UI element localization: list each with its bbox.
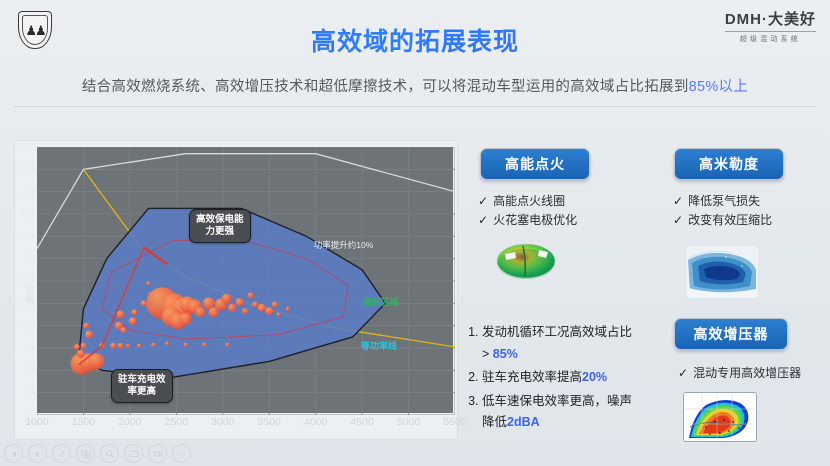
pen-icon[interactable] [52, 444, 71, 463]
x-axis-tick: 3000 [211, 416, 234, 428]
turbo-map-thumb [683, 392, 757, 442]
y-axis-tick: 180 [16, 208, 34, 220]
key-point-highlight: 20% [582, 370, 607, 384]
callout-hold-charge-line1: 高效保电能 [196, 214, 244, 226]
y-axis-tick: 80 [22, 320, 34, 332]
subtitle-main: 结合高效燃烧系统、高效增压技术和超低摩擦技术，可以将混动车型运用的高效域占比拓展… [82, 79, 689, 95]
callout-hold-charge: 高效保电能 力更强 [189, 209, 251, 243]
check-icon: ✓ [673, 213, 683, 227]
zoom-icon[interactable] [100, 444, 119, 463]
play-icon[interactable] [28, 444, 47, 463]
check-icon: ✓ [478, 194, 488, 208]
bullet-item: ✓高能点火线圈 [478, 192, 577, 211]
bullet-label: 降低泵气损失 [688, 194, 760, 208]
annotation-efficient-zone: 高效区域 [363, 295, 399, 308]
y-axis-tick: 160 [16, 230, 34, 242]
x-axis-tick: 2000 [118, 416, 141, 428]
bullet-label: 火花塞电极优化 [493, 213, 577, 227]
y-axis-tick: 20 [22, 387, 34, 399]
subtitle-highlight: 85%以上 [689, 79, 749, 95]
intake-flow-thumb [686, 246, 758, 298]
x-axis-tick: 4500 [350, 416, 373, 428]
bullet-item: ✓混动专用高效增压器 [678, 364, 801, 383]
callout-park-charge-line1: 驻车充电效 [118, 374, 166, 386]
key-point-highlight: 85% [493, 347, 518, 361]
bullet-item: ✓改变有效压缩比 [673, 211, 772, 230]
key-point-text: 低车速保电效率更高，噪声降低 [482, 394, 632, 430]
x-axis-tick: 1500 [72, 416, 95, 428]
chart-graphics [37, 147, 455, 415]
combustion-cfd-thumb [495, 240, 557, 282]
y-axis-tick: 40 [22, 364, 34, 376]
annotation-power-gain: 功率提升约10% [314, 239, 374, 251]
list-item: 驻车充电效率提高20% [482, 367, 637, 389]
x-axis-tick: 4000 [304, 416, 327, 428]
key-point-text: 驻车充电效率提高 [482, 370, 582, 384]
badge-high-energy-ignition[interactable]: 高能点火 [480, 148, 590, 180]
page-subtitle: 结合高效燃烧系统、高效增压技术和超低摩擦技术，可以将混动车型运用的高效域占比拓展… [0, 75, 830, 96]
callout-hold-charge-line2: 力更强 [196, 226, 244, 238]
bullets-high-efficiency-turbo: ✓混动专用高效增压器 [678, 364, 801, 383]
list-item: 发动机循环工况高效域占比 > 85% [482, 322, 637, 365]
x-axis-tick: 1000 [25, 416, 48, 428]
list-item: 低车速保电效率更高，噪声降低2dBA [482, 391, 637, 434]
bullet-label: 混动专用高效增压器 [693, 366, 801, 380]
prev-icon[interactable] [4, 444, 23, 463]
efficiency-map-chart: 0204060801001201401601802002202401000150… [14, 140, 458, 440]
check-icon: ✓ [678, 366, 688, 380]
x-axis-label: 转速 [282, 415, 304, 431]
x-axis-tick: 2500 [165, 416, 188, 428]
bullet-item: ✓降低泵气损失 [673, 192, 772, 211]
key-point-highlight: 2dBA [507, 415, 540, 429]
bullet-item: ✓火花塞电极优化 [478, 211, 577, 230]
chart-plot-area: 0204060801001201401601802002202401000150… [37, 147, 453, 413]
callout-park-charge-line2: 率更高 [118, 386, 166, 398]
check-icon: ✓ [673, 194, 683, 208]
bullet-label: 高能点火线圈 [493, 194, 565, 208]
badge-high-efficiency-turbo[interactable]: 高效增压器 [674, 318, 788, 350]
bullet-label: 改变有效压缩比 [688, 213, 772, 227]
y-axis-tick: 140 [16, 253, 34, 265]
more-icon[interactable] [172, 444, 191, 463]
page-title: 高效域的拓展表现 [0, 22, 830, 58]
x-axis-tick: 5000 [397, 416, 420, 428]
y-axis-label: 扭矩 [23, 285, 36, 303]
callout-park-charge: 驻车充电效 率更高 [111, 369, 173, 403]
y-axis-tick: 200 [16, 186, 34, 198]
annotation-iso-power: 等功率线 [361, 339, 397, 352]
screen-icon[interactable] [124, 444, 143, 463]
y-axis-tick: 60 [22, 342, 34, 354]
bullets-high-energy-ignition: ✓高能点火线圈 ✓火花塞电极优化 [478, 192, 577, 229]
presentation-toolbar[interactable] [4, 444, 191, 463]
video-icon[interactable] [148, 444, 167, 463]
check-icon: ✓ [478, 213, 488, 227]
slide-root: ♟♟ DMH·大美好 超级混动系统 高效域的拓展表现 结合高效燃烧系统、高效增压… [0, 0, 830, 466]
y-axis-tick: 240 [16, 141, 34, 153]
slides-icon[interactable] [76, 444, 95, 463]
key-points-list: 发动机循环工况高效域占比 > 85% 驻车充电效率提高20% 低车速保电效率更高… [462, 322, 637, 436]
badge-high-miller-degree[interactable]: 高米勒度 [674, 148, 784, 180]
x-axis-tick: 3500 [258, 416, 281, 428]
y-axis-tick: 220 [16, 163, 34, 175]
bullets-high-miller-degree: ✓降低泵气损失 ✓改变有效压缩比 [673, 192, 772, 229]
header-divider [14, 106, 816, 107]
